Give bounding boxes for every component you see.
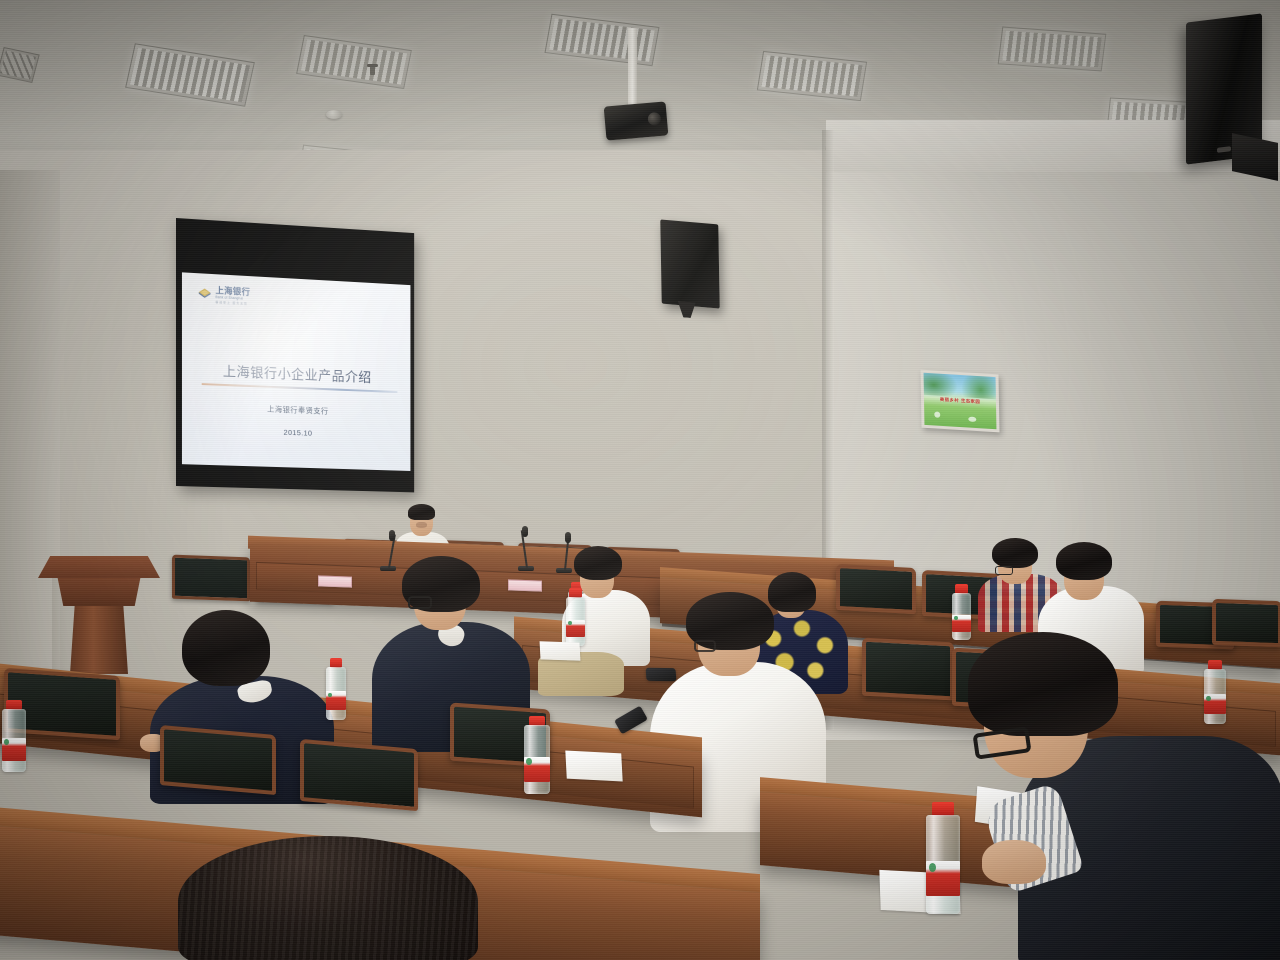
wall-speaker-icon (660, 219, 719, 308)
plaid-hair (992, 538, 1038, 568)
bottle-label (524, 757, 550, 782)
bottle-body (326, 667, 346, 720)
black-suit-hair (968, 632, 1118, 736)
microphone-head-icon (565, 532, 571, 543)
bottle-body (524, 725, 550, 794)
water-bottle (2, 700, 26, 772)
water-bottle (326, 658, 346, 720)
slide-date: 2015.10 (182, 424, 410, 441)
ceiling-projector (604, 101, 669, 140)
water-bottle (566, 588, 585, 646)
bottle-label (2, 738, 26, 761)
bottle-cap (932, 802, 954, 816)
water-bottle (926, 802, 960, 914)
bottle-body (926, 815, 960, 914)
note-paper (540, 641, 581, 660)
bank-of-shanghai-diamond-logo-icon (198, 287, 212, 302)
audience-member-foreground (178, 836, 478, 960)
slide-logo: 上海银行 Bank of Shanghai 精诚至上 服务无限 (198, 285, 251, 305)
logo-text-block: 上海银行 Bank of Shanghai 精诚至上 服务无限 (215, 286, 250, 305)
framed-poster: 美丽乡村 生态家园 (920, 370, 999, 433)
logo-slogan: 精诚至上 服务无限 (215, 301, 250, 306)
poster-image: 美丽乡村 生态家园 (924, 373, 997, 429)
bottle-body (566, 597, 585, 646)
head-table-chair (172, 555, 250, 602)
microphone-head-icon (522, 526, 528, 537)
audience-chair (862, 638, 954, 701)
foreground-person-hair (178, 836, 478, 960)
projection-screen: 上海银行 Bank of Shanghai 精诚至上 服务无限 上海银行小企业产… (176, 218, 414, 492)
hand (982, 840, 1046, 884)
poster-caption: 美丽乡村 生态家园 (924, 396, 996, 406)
water-bottle (524, 716, 550, 794)
audience-chair (160, 725, 276, 795)
slide-subtitle: 上海银行奉贤支行 (182, 400, 410, 419)
wooden-podium (38, 556, 160, 674)
audience-chair (300, 739, 418, 811)
microphone-head-icon (389, 530, 395, 541)
glasses-icon (408, 596, 432, 609)
name-card (318, 575, 352, 587)
glasses-icon (694, 640, 716, 652)
white-shirt-hair (1056, 542, 1112, 580)
bottle-label (326, 691, 346, 710)
bottle-label (926, 861, 960, 897)
bottle-label (566, 620, 585, 638)
presentation-slide: 上海银行 Bank of Shanghai 精诚至上 服务无限 上海银行小企业产… (182, 272, 410, 471)
bottle-body (2, 709, 26, 772)
conference-room-photo: 美丽乡村 生态家园 上海银行 Bank of Shanghai 精诚至上 (0, 0, 1280, 960)
note-paper (565, 750, 622, 781)
khaki-hair (574, 546, 622, 580)
projector-mount-pole (628, 28, 637, 108)
audience-member-black-suit-phone (960, 618, 1280, 960)
glasses-icon (995, 566, 1013, 575)
presenter-hair (408, 504, 435, 520)
blazer-hair (182, 610, 270, 686)
